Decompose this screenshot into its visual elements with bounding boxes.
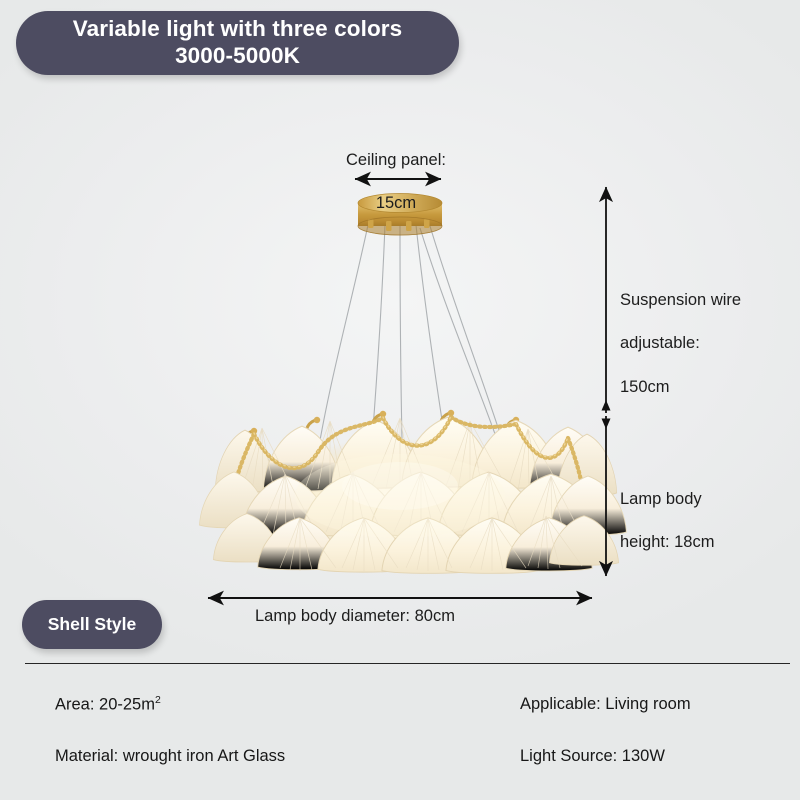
spec-item-light-source: Light Source: 130W [490,747,785,766]
header-badge-line2: 3000-5000K [175,43,300,70]
lamp-body-height-label-line2: height: 18cm [620,532,785,554]
lamp-body [199,410,626,574]
ceiling-panel-label: Ceiling panel: 15cm [321,128,471,237]
lamp-body-height-label-line1: Lamp body [620,489,785,511]
spec-item-area: Area: 20-25m2 [25,694,490,715]
spec-applicable-text: Applicable: Living room [520,695,691,713]
style-badge: Shell Style [22,600,162,649]
spec-material-text: Material: wrought iron Art Glass [55,747,285,765]
product-spec-diagram: Variable light with three colors 3000-50… [0,0,800,800]
header-badge: Variable light with three colors 3000-50… [16,11,459,75]
lamp-body-height-label: Lamp body height: 18cm [620,467,785,576]
style-badge-label: Shell Style [48,614,137,635]
spec-item-applicable: Applicable: Living room [490,695,785,714]
spec-grid: Area: 20-25m2 Applicable: Living room Ma… [25,678,785,783]
spec-light-source-text: Light Source: 130W [520,747,665,765]
suspension-wire-label: Suspension wire adjustable: 150cm [620,268,785,420]
section-divider [25,663,790,664]
suspension-wire-label-line1: Suspension wire [620,290,785,312]
ceiling-panel-label-line1: Ceiling panel: [321,150,471,172]
suspension-wire-label-line2: adjustable: [620,333,785,355]
spec-area-text: Area: 20-25m [55,696,155,714]
suspension-wire-label-line3: 150cm [620,377,785,399]
header-badge-line1: Variable light with three colors [73,16,403,43]
spec-area-superscript: 2 [155,694,161,706]
ceiling-panel-label-line2: 15cm [321,193,471,215]
lamp-body-diameter-label: Lamp body diameter: 80cm [255,606,555,628]
spec-item-material: Material: wrought iron Art Glass [25,747,490,766]
